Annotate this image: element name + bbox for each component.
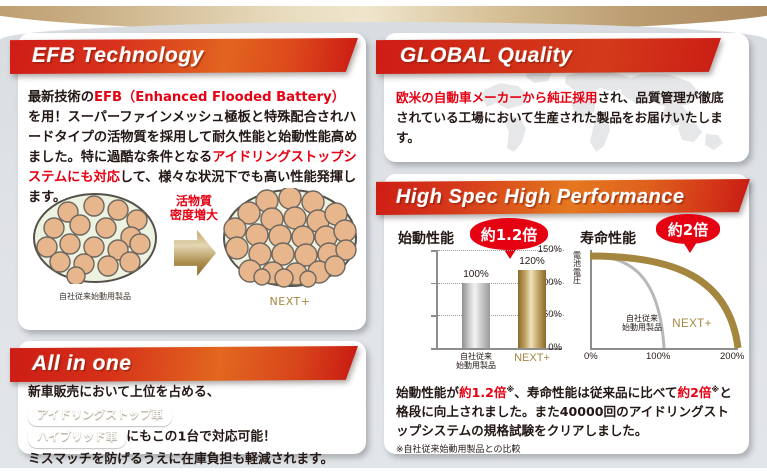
- ribbon-global-quality-label: GLOBAL Quality: [400, 44, 572, 68]
- ribbon-efb-label: EFB Technology: [32, 44, 204, 68]
- bar-chart-tickmark-0: [431, 348, 437, 350]
- efb-particle-diagram: 自社従来始動用製品 活物質 密度増大: [28, 192, 358, 304]
- line-chart-curves: [568, 250, 744, 350]
- charts-area: 始動性能 寿命性能 約1.2倍 約2倍 0%50%100%150%100%自社従…: [384, 206, 749, 381]
- ellipse-new-svg: [222, 188, 358, 288]
- line-chart-xtick-1: 100%: [646, 351, 670, 362]
- ellipse-old-svg: [32, 192, 158, 284]
- ellipse-old: [32, 192, 158, 289]
- line-curve-0: [590, 256, 664, 348]
- diagram-old-product: 自社従来始動用製品: [32, 192, 158, 302]
- hs-footer-seg-2: 、寿命性能は従来品に比べて: [514, 385, 677, 400]
- chart-title-life-performance: 寿命性能: [580, 228, 636, 248]
- arrow-label-line1: 活物質: [164, 194, 224, 208]
- bar-value-label-1: 120%: [510, 256, 554, 267]
- diagram-new-product: NEXT+: [222, 188, 358, 308]
- bar-chart-y-axis: [436, 250, 438, 348]
- bar-value-label-0: 100%: [454, 269, 498, 280]
- chart-title-starting-performance: 始動性能: [398, 228, 454, 248]
- bar-chart-starting-performance: 0%50%100%150%100%自社従来始動用製品120%NEXT+: [392, 250, 562, 372]
- ribbon-efb-technology: EFB Technology: [10, 38, 358, 74]
- line-chart-life-performance: 電池電圧 0%100%200%自社従来始動用製品NEXT+: [568, 250, 744, 372]
- global-quality-body-text: 欧米の自動車メーカーから純正採用され、品質管理が徹底されている工場において生産さ…: [396, 88, 736, 148]
- caption-new-product: NEXT+: [222, 295, 358, 308]
- bar-chart-gridline-3: [438, 250, 564, 251]
- badge-idling-stop-car: アイドリングストップ車: [28, 404, 172, 426]
- bar-0: [462, 283, 490, 348]
- bar-chart-tickmark-2: [431, 283, 437, 285]
- hs-footer-seg-0: 始動性能が: [396, 385, 459, 400]
- bar-category-label-0: 自社従来始動用製品: [448, 352, 504, 370]
- global-text-seg-0: 欧米の自動車メーカーから純正採用: [396, 90, 598, 105]
- caption-old-product: 自社従来始動用製品: [32, 291, 158, 302]
- hs-footer-seg-1: 約1.2倍: [459, 385, 507, 400]
- ribbon-all-in-one: All in one: [10, 346, 358, 382]
- callout-bubble-life: 約2倍: [656, 214, 720, 244]
- line-chart-xtick-2: 200%: [720, 351, 744, 362]
- high-spec-footer-text: 始動性能が約1.2倍※、寿命性能は従来品に比べて約2倍※と格段に向上されました。…: [396, 384, 741, 441]
- bar-1: [518, 270, 546, 348]
- ribbon-global-quality: GLOBAL Quality: [376, 38, 721, 74]
- bar-category-label-1: NEXT+: [504, 352, 560, 365]
- all-in-one-line2-suffix: にもこの1台で対応可能！: [126, 430, 276, 445]
- all-in-one-line3: ミスマッチを防げるうえに在庫負担も軽減されます。: [28, 452, 333, 467]
- bar-chart-tickmark-3: [431, 250, 437, 252]
- ellipse-new: [222, 188, 358, 293]
- all-in-one-body-text: 新車販売において上位を占める、アイドリングストップ車 ハイブリッド車にもこの1台…: [28, 382, 358, 471]
- line-chart-xtick-0: 0%: [584, 351, 598, 362]
- right-arrow-icon: [174, 230, 216, 276]
- badge-hybrid-car: ハイブリッド車: [28, 426, 126, 448]
- arrow-label-line2: 密度増大: [164, 208, 224, 222]
- ribbon-all-in-one-label: All in one: [32, 352, 132, 376]
- all-in-one-line1-prefix: 新車販売において上位を占める、: [28, 385, 220, 400]
- line-series-label-1: NEXT+: [664, 318, 720, 331]
- line-series-label-0: 自社従来始動用製品: [614, 314, 670, 332]
- arrow-label-group: 活物質 密度増大: [164, 194, 224, 222]
- hs-footer-seg-3: 約2倍: [677, 385, 711, 400]
- efb-text-seg-0: 最新技術の: [28, 90, 94, 105]
- high-spec-footnote: ※自社従来始動用製品との比較: [396, 444, 741, 458]
- efb-text-seg-1: EFB（Enhanced Flooded Battery）: [94, 90, 345, 105]
- high-spec-footer: 始動性能が約1.2倍※、寿命性能は従来品に比べて約2倍※と格段に向上されました。…: [396, 384, 741, 458]
- bar-chart-tickmark-1: [431, 315, 437, 317]
